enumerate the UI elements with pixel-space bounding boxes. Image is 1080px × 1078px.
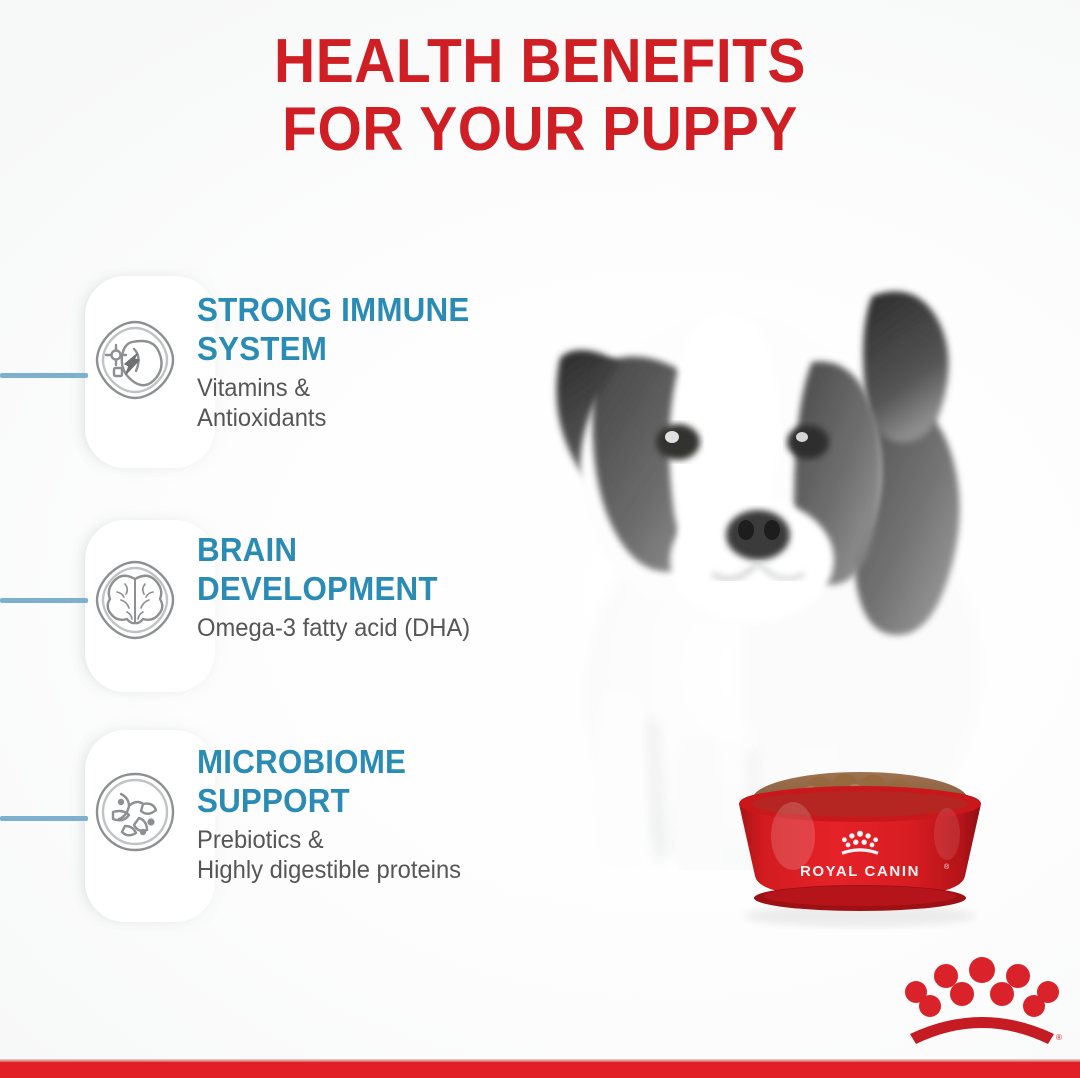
title-line-2: FOR YOUR PUPPY xyxy=(43,96,1037,164)
benefit-heading: MICROBIOME SUPPORT xyxy=(197,742,461,820)
bowl-wordmark: ROYAL CANIN xyxy=(800,863,920,880)
benefit-heading: BRAIN DEVELOPMENT xyxy=(197,530,470,608)
benefit-subtext: Omega-3 fatty acid (DHA) xyxy=(197,613,470,643)
promo-canvas: HEALTH BENEFITS FOR YOUR PUPPY xyxy=(0,0,1080,1078)
royal-canin-crown-icon: ® xyxy=(902,950,1062,1046)
page-title: HEALTH BENEFITS FOR YOUR PUPPY xyxy=(0,28,1080,164)
benefit-subtext: Vitamins & Antioxidants xyxy=(197,373,469,433)
benefit-text-block: MICROBIOME SUPPORT Prebiotics & Highly d… xyxy=(185,740,475,885)
benefit-item-brain-development: BRAIN DEVELOPMENT Omega-3 fatty acid (DH… xyxy=(85,528,555,644)
benefit-text-block: BRAIN DEVELOPMENT Omega-3 fatty acid (DH… xyxy=(185,528,485,643)
benefit-subtext: Prebiotics & Highly digestible proteins xyxy=(197,825,461,885)
title-line-1: HEALTH BENEFITS xyxy=(43,28,1037,96)
shield-germs-icon xyxy=(85,288,185,404)
bowl-trademark: ® xyxy=(944,863,950,871)
connector-line-immune xyxy=(0,373,88,378)
microbiome-bacteria-icon xyxy=(85,740,185,856)
connector-line-brain xyxy=(0,598,88,603)
crown-trademark: ® xyxy=(1056,1033,1062,1042)
bottom-red-bar xyxy=(0,1062,1080,1078)
benefit-text-block: STRONG IMMUNE SYSTEM Vitamins & Antioxid… xyxy=(185,288,484,433)
connector-line-microbiome xyxy=(0,816,88,821)
benefit-heading: STRONG IMMUNE SYSTEM xyxy=(197,290,469,368)
brain-icon xyxy=(85,528,185,644)
benefit-item-strong-immune-system: STRONG IMMUNE SYSTEM Vitamins & Antioxid… xyxy=(85,288,555,433)
royal-canin-bowl: ROYAL CANIN ® xyxy=(715,770,1005,930)
benefit-item-microbiome-support: MICROBIOME SUPPORT Prebiotics & Highly d… xyxy=(85,740,555,885)
